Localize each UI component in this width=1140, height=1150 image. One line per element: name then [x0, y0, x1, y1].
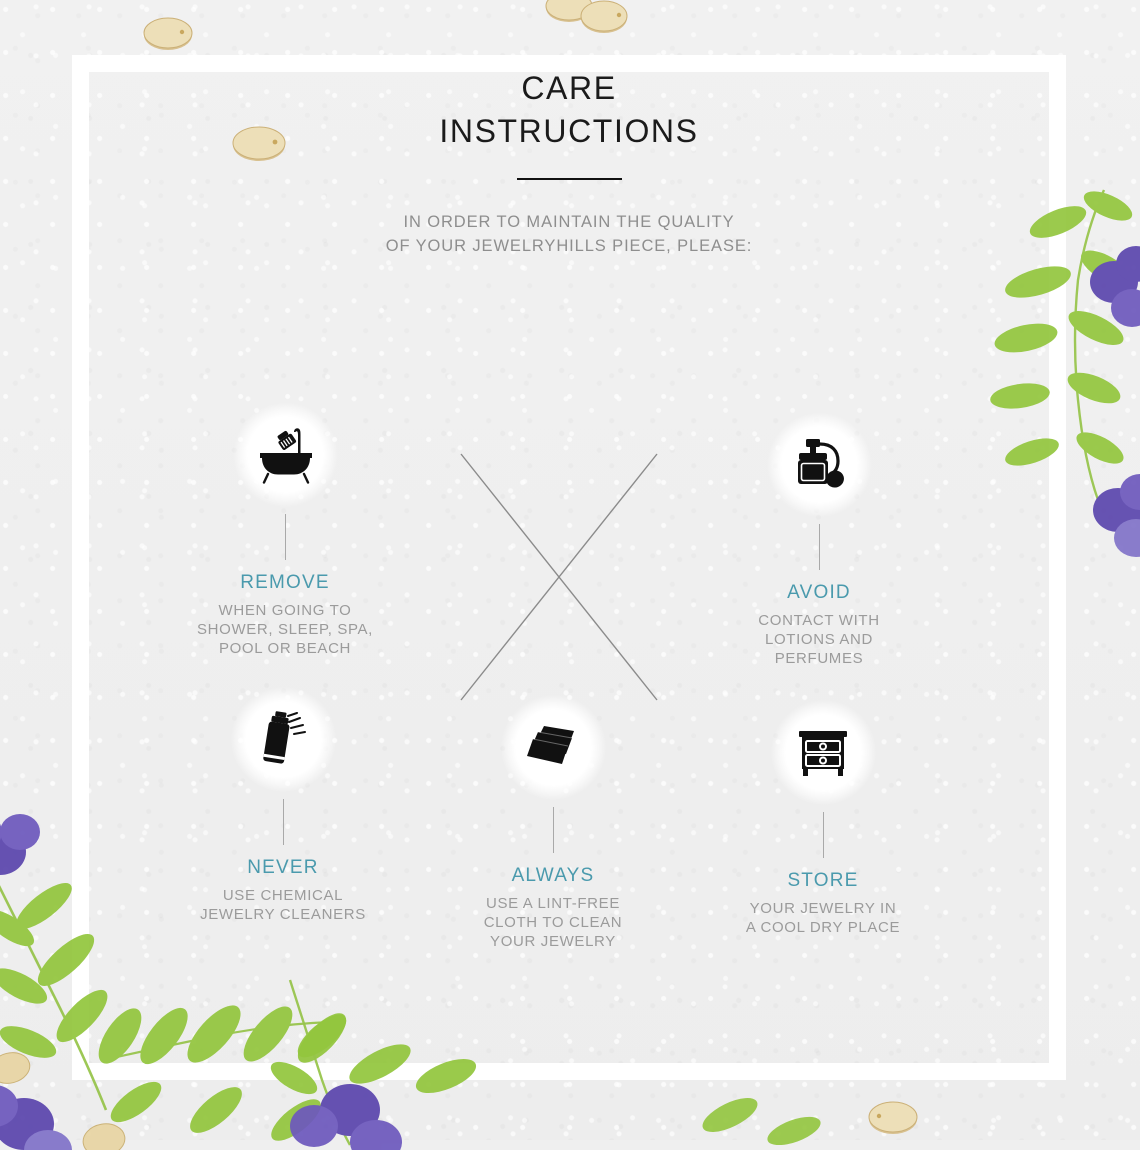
desc-line-1: USE A LINT-FREE: [463, 894, 643, 913]
gold-disc-charm: [230, 121, 288, 165]
desc-line-2: SHOWER, SLEEP, SPA,: [195, 620, 375, 639]
connector-stem-never: [283, 799, 284, 845]
spray-can-icon: [255, 710, 311, 770]
subtitle: IN ORDER TO MAINTAIN THE QUALITY OF YOUR…: [89, 210, 1049, 259]
nightstand-dresser-icon: [795, 727, 851, 779]
header-block: CARE INSTRUCTIONS IN ORDER TO MAINTAIN T…: [89, 72, 1049, 259]
desc-line-2: JEWELRY CLEANERS: [193, 905, 373, 924]
care-item-title-store: STORE: [733, 871, 913, 890]
care-item-avoid: AVOID CONTACT WITH LOTIONS AND PERFUMES: [729, 412, 909, 668]
care-item-never: NEVER USE CHEMICAL JEWELRY CLEANERS: [193, 687, 373, 924]
desc-line-2: LOTIONS AND PERFUMES: [729, 630, 909, 668]
icon-bubble-store: [771, 700, 876, 805]
bathtub-shower-icon: [254, 426, 316, 484]
desc-line-1: CONTACT WITH: [729, 611, 909, 630]
care-item-desc-always: USE A LINT-FREE CLOTH TO CLEAN YOUR JEWE…: [463, 894, 643, 951]
icon-bubble-always: [501, 695, 606, 800]
frame-border-top: [72, 55, 1066, 72]
icon-bubble-avoid: [767, 412, 872, 517]
desc-line-1: WHEN GOING TO: [195, 601, 375, 620]
perfume-atomizer-icon: [788, 437, 850, 493]
care-instructions-card: CARE INSTRUCTIONS IN ORDER TO MAINTAIN T…: [89, 72, 1049, 1063]
gold-disc-charm: [866, 1096, 920, 1138]
care-item-title-always: ALWAYS: [463, 866, 643, 885]
desc-line-1: USE CHEMICAL: [193, 886, 373, 905]
care-item-title-avoid: AVOID: [729, 583, 909, 602]
connector-stem-avoid: [819, 524, 820, 570]
care-item-store: STORE YOUR JEWELRY IN A COOL DRY PLACE: [733, 700, 913, 937]
desc-line-1: YOUR JEWELRY IN: [733, 899, 913, 918]
care-item-desc-never: USE CHEMICAL JEWELRY CLEANERS: [193, 886, 373, 924]
connector-stem-always: [553, 807, 554, 853]
desc-line-3: YOUR JEWELRY: [463, 932, 643, 951]
care-item-title-remove: REMOVE: [195, 573, 375, 592]
gold-disc-charm: [141, 14, 195, 54]
connector-stem-remove: [285, 514, 286, 560]
subtitle-line-1: IN ORDER TO MAINTAIN THE QUALITY: [403, 213, 734, 231]
title-line-1: CARE: [521, 70, 616, 106]
title-divider: [517, 178, 622, 180]
frame-border-bottom: [72, 1063, 1066, 1080]
crossing-lines-decoration: [459, 452, 659, 702]
subtitle-line-2: OF YOUR JEWELRYHILLS PIECE, PLEASE:: [89, 234, 1049, 258]
folded-cloth-icon: [522, 722, 584, 774]
care-item-desc-remove: WHEN GOING TO SHOWER, SLEEP, SPA, POOL O…: [195, 601, 375, 658]
gold-disc-charm: [578, 0, 630, 38]
care-item-desc-store: YOUR JEWELRY IN A COOL DRY PLACE: [733, 899, 913, 937]
care-item-desc-avoid: CONTACT WITH LOTIONS AND PERFUMES: [729, 611, 909, 668]
frame-border-left: [72, 55, 89, 1080]
frame-border-right: [1049, 55, 1066, 1080]
care-item-title-never: NEVER: [193, 858, 373, 877]
desc-line-3: POOL OR BEACH: [195, 639, 375, 658]
desc-line-2: A COOL DRY PLACE: [733, 918, 913, 937]
care-item-remove: REMOVE WHEN GOING TO SHOWER, SLEEP, SPA,…: [195, 402, 375, 658]
care-item-always: ALWAYS USE A LINT-FREE CLOTH TO CLEAN YO…: [463, 695, 643, 951]
icon-bubble-remove: [233, 402, 338, 507]
connector-stem-store: [823, 812, 824, 858]
desc-line-2: CLOTH TO CLEAN: [463, 913, 643, 932]
icon-bubble-never: [231, 687, 336, 792]
